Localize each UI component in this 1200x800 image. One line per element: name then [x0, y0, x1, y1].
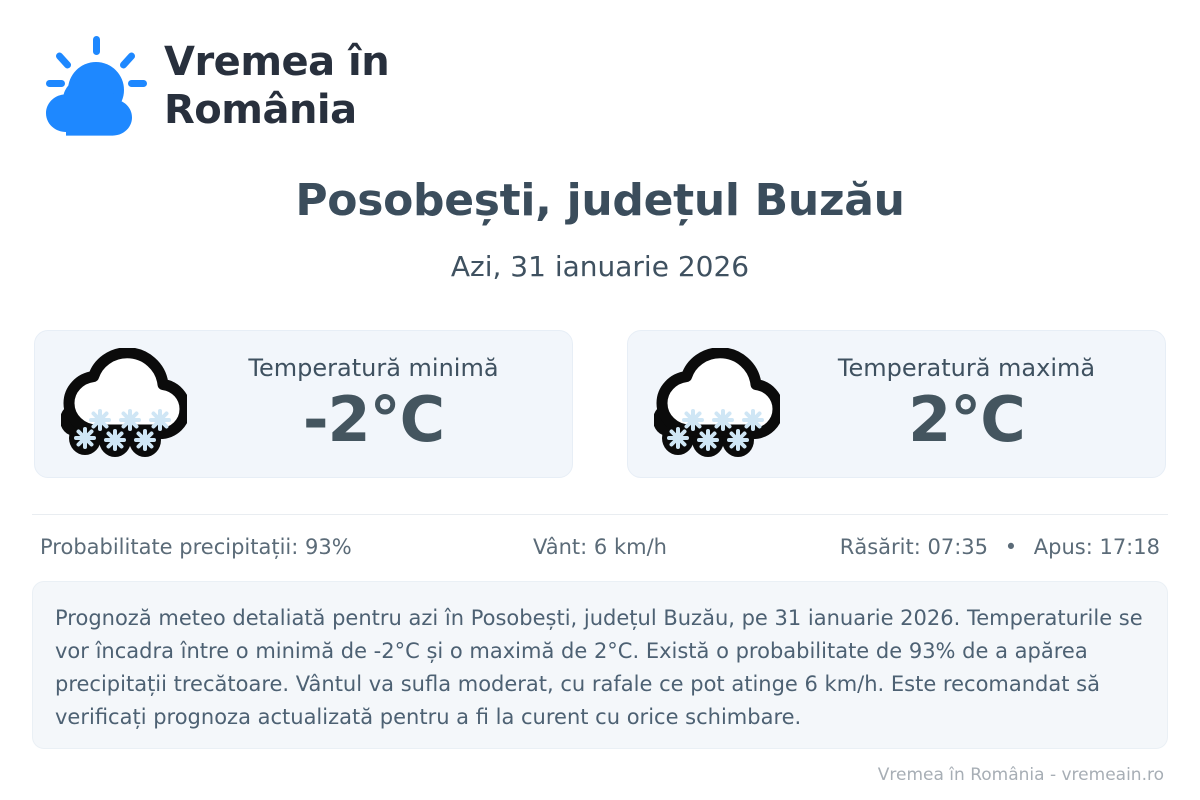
card-min-value: -2°C	[303, 385, 444, 455]
card-max-value: 2°C	[908, 385, 1025, 455]
card-min-text: Temperatură minimă -2°C	[201, 353, 546, 455]
stat-separator: •	[995, 535, 1027, 559]
stats-divider	[32, 514, 1168, 515]
stat-sunset: Apus: 17:18	[1034, 535, 1160, 559]
stat-wind: Vânt: 6 km/h	[413, 533, 786, 561]
page-subtitle: Azi, 31 ianuarie 2026	[32, 250, 1168, 284]
brand-name: Vremea înRomânia	[164, 38, 389, 134]
brand-line-1: Vremea în	[164, 39, 389, 85]
card-max-text: Temperatură maximă 2°C	[794, 353, 1139, 455]
temperature-cards: Temperatură minimă -2°C	[32, 330, 1168, 478]
sun-behind-cloud-icon	[36, 34, 148, 138]
page-title: Posobești, județul Buzău	[32, 174, 1168, 228]
stat-precipitation: Probabilitate precipitații: 93%	[32, 533, 413, 561]
site-header: Vremea înRomânia	[32, 0, 1168, 128]
stat-sun-times: Răsărit: 07:35 • Apus: 17:18	[787, 533, 1168, 561]
weather-page: Vremea înRomânia Posobești, județul Buză…	[0, 0, 1200, 800]
forecast-description: Prognoză meteo detaliată pentru azi în P…	[32, 581, 1168, 749]
stat-sunrise: Răsărit: 07:35	[840, 535, 988, 559]
cloud-with-snow-icon	[654, 348, 780, 460]
card-min-temperature: Temperatură minimă -2°C	[34, 330, 573, 478]
card-min-label: Temperatură minimă	[248, 353, 498, 383]
brand-line-2: România	[164, 87, 357, 133]
card-max-temperature: Temperatură maximă 2°C	[627, 330, 1166, 478]
cloud-with-snow-icon	[61, 348, 187, 460]
site-footer: Vremea în România - vremeain.ro	[878, 764, 1164, 786]
weather-stats-row: Probabilitate precipitații: 93% Vânt: 6 …	[32, 533, 1168, 561]
card-max-label: Temperatură maximă	[838, 353, 1095, 383]
